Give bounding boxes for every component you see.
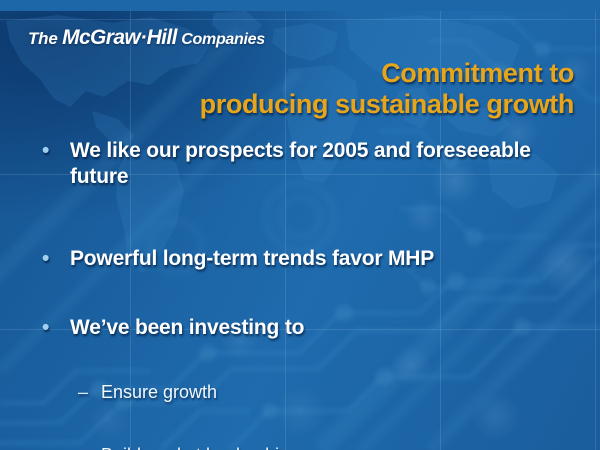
spacer	[0, 190, 600, 246]
mcgraw-hill-logo: The McGraw·Hill Companies	[28, 26, 265, 50]
logo-word-the: The	[28, 29, 58, 48]
bullet-marker-icon: •	[42, 246, 49, 272]
slide-body: • We like our prospects for 2005 and for…	[0, 138, 600, 450]
bullet-text: Powerful long-term trends favor MHP	[70, 247, 434, 270]
bullet-marker-icon: •	[42, 138, 49, 164]
sub-bullet-item: – Build market leadership	[0, 444, 600, 450]
sub-bullet-marker-icon: –	[78, 381, 88, 404]
sub-bullet-text: Ensure growth	[101, 382, 217, 402]
spacer	[0, 272, 600, 315]
slide-title: Commitment to producing sustainable grow…	[144, 58, 574, 120]
logo-word-companies: Companies	[181, 31, 265, 48]
slide-title-line-1: Commitment to	[144, 58, 574, 89]
sub-bullet-item: – Ensure growth	[0, 381, 600, 404]
sub-bullet-text: Build market leadership	[101, 445, 289, 450]
spacer	[0, 341, 600, 381]
bullet-item: • We’ve been investing to	[0, 315, 600, 341]
bullet-text: We’ve been investing to	[70, 316, 304, 339]
bullet-marker-icon: •	[42, 315, 49, 341]
logo-word-brand: McGraw·Hill	[62, 26, 177, 49]
bullet-item: • Powerful long-term trends favor MHP	[0, 246, 600, 272]
presentation-slide: The McGraw·Hill Companies Commitment to …	[0, 0, 600, 450]
bullet-item: • We like our prospects for 2005 and for…	[0, 138, 600, 190]
top-accent-bar	[0, 0, 600, 11]
bullet-text: We like our prospects for 2005 and fores…	[70, 139, 531, 188]
sub-bullet-marker-icon: –	[78, 444, 88, 450]
spacer	[0, 404, 600, 444]
slide-title-line-2: producing sustainable growth	[144, 89, 574, 120]
